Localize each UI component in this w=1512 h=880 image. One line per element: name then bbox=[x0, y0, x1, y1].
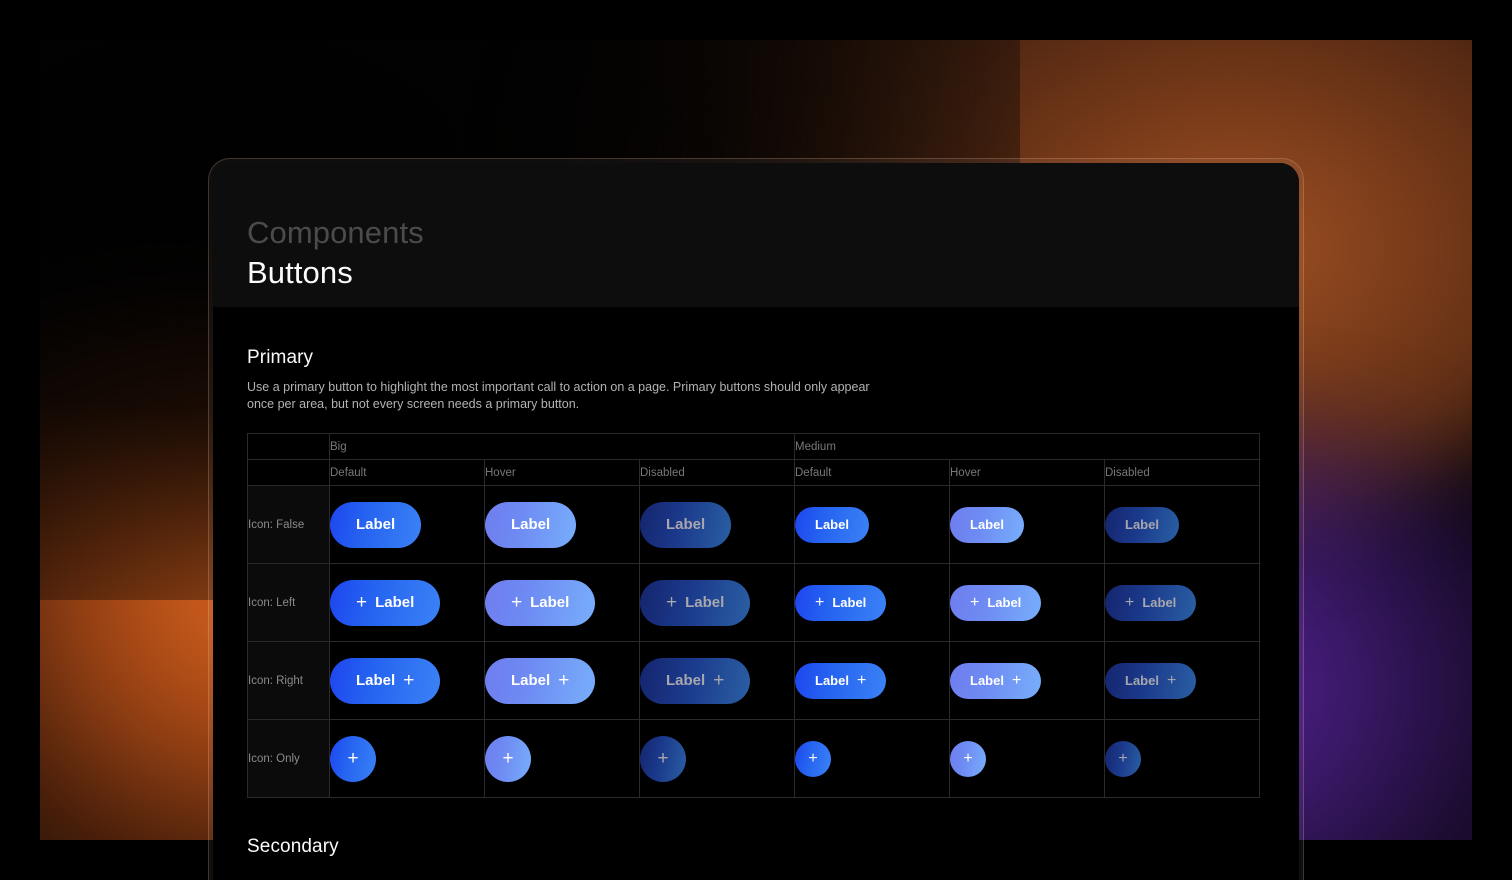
cell-medium-hover-icon-right: Label + bbox=[950, 642, 1105, 720]
state-header-medium-disabled: Disabled bbox=[1105, 460, 1260, 486]
button-label: Label bbox=[511, 517, 550, 532]
row-label-icon-right: Icon: Right bbox=[248, 642, 330, 720]
plus-icon: + bbox=[403, 671, 414, 690]
button-label: Label bbox=[356, 673, 395, 688]
table-row: Icon: Right Label + Label + bbox=[248, 642, 1260, 720]
cell-big-hover-icon-right: Label + bbox=[485, 642, 640, 720]
page-title: Buttons bbox=[247, 254, 1299, 293]
plus-icon: + bbox=[558, 671, 569, 690]
button-medium-hover-icon-only[interactable]: + bbox=[950, 741, 986, 777]
cell-big-disabled-icon-right: Label + bbox=[640, 642, 795, 720]
button-label: Label bbox=[666, 673, 705, 688]
cell-medium-hover-icon-left: + Label bbox=[950, 564, 1105, 642]
button-medium-default-icon-left[interactable]: + Label bbox=[795, 585, 886, 621]
row-label-icon-only: Icon: Only bbox=[248, 720, 330, 798]
plus-icon: + bbox=[666, 593, 677, 612]
group-header-medium: Medium bbox=[795, 434, 1260, 460]
cell-medium-hover-icon-only: + bbox=[950, 720, 1105, 798]
table-row: Icon: Left + Label + Label bbox=[248, 564, 1260, 642]
cell-big-hover-icon-left: + Label bbox=[485, 564, 640, 642]
plus-icon: + bbox=[713, 671, 724, 690]
plus-icon: + bbox=[1125, 595, 1134, 611]
cell-big-disabled-icon-left: + Label bbox=[640, 564, 795, 642]
app-window-frame: Components Buttons Primary Use a primary… bbox=[208, 158, 1304, 880]
plus-icon: + bbox=[356, 593, 367, 612]
button-big-hover-icon-right[interactable]: Label + bbox=[485, 658, 595, 704]
plus-icon: + bbox=[1012, 673, 1021, 689]
plus-icon: + bbox=[347, 749, 358, 768]
section-heading-secondary: Secondary bbox=[247, 836, 1299, 858]
button-label: Label bbox=[511, 673, 550, 688]
button-label: Label bbox=[375, 595, 414, 610]
button-medium-disabled-icon-only: + bbox=[1105, 741, 1141, 777]
table-group-header-row: Big Medium bbox=[248, 434, 1260, 460]
state-header-big-hover: Hover bbox=[485, 460, 640, 486]
plus-icon: + bbox=[857, 673, 866, 689]
button-label: Label bbox=[530, 595, 569, 610]
button-medium-default-icon-only[interactable]: + bbox=[795, 741, 831, 777]
button-label: Label bbox=[1125, 518, 1159, 531]
button-label: Label bbox=[970, 674, 1004, 687]
table-corner-cell bbox=[248, 434, 330, 460]
cell-medium-default-icon-left: + Label bbox=[795, 564, 950, 642]
button-label: Label bbox=[970, 518, 1004, 531]
button-big-hover-icon-false[interactable]: Label bbox=[485, 502, 576, 548]
button-spec-table: Big Medium Default Hover Disabled Defaul… bbox=[247, 433, 1260, 798]
window-header: Components Buttons bbox=[213, 163, 1299, 307]
button-label: Label bbox=[832, 596, 866, 609]
cell-big-default-icon-right: Label + bbox=[330, 642, 485, 720]
button-big-hover-icon-only[interactable]: + bbox=[485, 736, 531, 782]
button-big-default-icon-right[interactable]: Label + bbox=[330, 658, 440, 704]
table-row: Icon: False Label Label bbox=[248, 486, 1260, 564]
cell-big-hover-icon-false: Label bbox=[485, 486, 640, 564]
row-label-icon-false: Icon: False bbox=[248, 486, 330, 564]
cell-big-disabled-icon-only: + bbox=[640, 720, 795, 798]
button-big-disabled-icon-right: Label + bbox=[640, 658, 750, 704]
plus-icon: + bbox=[963, 751, 972, 767]
breadcrumb-eyebrow: Components bbox=[247, 215, 1299, 250]
button-label: Label bbox=[1125, 674, 1159, 687]
table-corner-cell-2 bbox=[248, 460, 330, 486]
button-label: Label bbox=[815, 674, 849, 687]
button-label: Label bbox=[356, 517, 395, 532]
table-row: Icon: Only + + bbox=[248, 720, 1260, 798]
button-big-disabled-icon-only: + bbox=[640, 736, 686, 782]
button-medium-hover-icon-false[interactable]: Label bbox=[950, 507, 1024, 543]
plus-icon: + bbox=[1118, 751, 1127, 767]
button-big-default-icon-left[interactable]: + Label bbox=[330, 580, 440, 626]
button-medium-disabled-icon-false: Label bbox=[1105, 507, 1179, 543]
section-description-primary: Use a primary button to highlight the mo… bbox=[247, 379, 877, 413]
cell-big-default-icon-left: + Label bbox=[330, 564, 485, 642]
button-big-default-icon-false[interactable]: Label bbox=[330, 502, 421, 548]
button-label: Label bbox=[987, 596, 1021, 609]
plus-icon: + bbox=[808, 751, 817, 767]
button-medium-default-icon-false[interactable]: Label bbox=[795, 507, 869, 543]
plus-icon: + bbox=[970, 595, 979, 611]
button-label: Label bbox=[666, 517, 705, 532]
button-medium-disabled-icon-right: Label + bbox=[1105, 663, 1196, 699]
state-header-medium-default: Default bbox=[795, 460, 950, 486]
button-medium-disabled-icon-left: + Label bbox=[1105, 585, 1196, 621]
cell-medium-hover-icon-false: Label bbox=[950, 486, 1105, 564]
window-body: Primary Use a primary button to highligh… bbox=[213, 307, 1299, 880]
cell-big-default-icon-only: + bbox=[330, 720, 485, 798]
button-medium-hover-icon-left[interactable]: + Label bbox=[950, 585, 1041, 621]
button-medium-hover-icon-right[interactable]: Label + bbox=[950, 663, 1041, 699]
button-big-hover-icon-left[interactable]: + Label bbox=[485, 580, 595, 626]
cell-big-default-icon-false: Label bbox=[330, 486, 485, 564]
button-big-default-icon-only[interactable]: + bbox=[330, 736, 376, 782]
state-header-medium-hover: Hover bbox=[950, 460, 1105, 486]
plus-icon: + bbox=[657, 749, 668, 768]
plus-icon: + bbox=[1167, 673, 1176, 689]
cell-big-hover-icon-only: + bbox=[485, 720, 640, 798]
state-header-big-default: Default bbox=[330, 460, 485, 486]
group-header-big: Big bbox=[330, 434, 795, 460]
plus-icon: + bbox=[511, 593, 522, 612]
plus-icon: + bbox=[502, 749, 513, 768]
button-label: Label bbox=[1142, 596, 1176, 609]
button-label: Label bbox=[685, 595, 724, 610]
button-label: Label bbox=[815, 518, 849, 531]
cell-medium-disabled-icon-left: + Label bbox=[1105, 564, 1260, 642]
state-header-big-disabled: Disabled bbox=[640, 460, 795, 486]
cell-medium-default-icon-false: Label bbox=[795, 486, 950, 564]
plus-icon: + bbox=[815, 595, 824, 611]
button-big-disabled-icon-left: + Label bbox=[640, 580, 750, 626]
cell-medium-disabled-icon-only: + bbox=[1105, 720, 1260, 798]
cell-medium-default-icon-only: + bbox=[795, 720, 950, 798]
cell-medium-default-icon-right: Label + bbox=[795, 642, 950, 720]
cell-medium-disabled-icon-right: Label + bbox=[1105, 642, 1260, 720]
app-window: Components Buttons Primary Use a primary… bbox=[213, 163, 1299, 880]
button-medium-default-icon-right[interactable]: Label + bbox=[795, 663, 886, 699]
cell-big-disabled-icon-false: Label bbox=[640, 486, 795, 564]
row-label-icon-left: Icon: Left bbox=[248, 564, 330, 642]
button-big-disabled-icon-false: Label bbox=[640, 502, 731, 548]
cell-medium-disabled-icon-false: Label bbox=[1105, 486, 1260, 564]
table-state-header-row: Default Hover Disabled Default Hover Dis… bbox=[248, 460, 1260, 486]
section-heading-primary: Primary bbox=[247, 347, 1299, 369]
